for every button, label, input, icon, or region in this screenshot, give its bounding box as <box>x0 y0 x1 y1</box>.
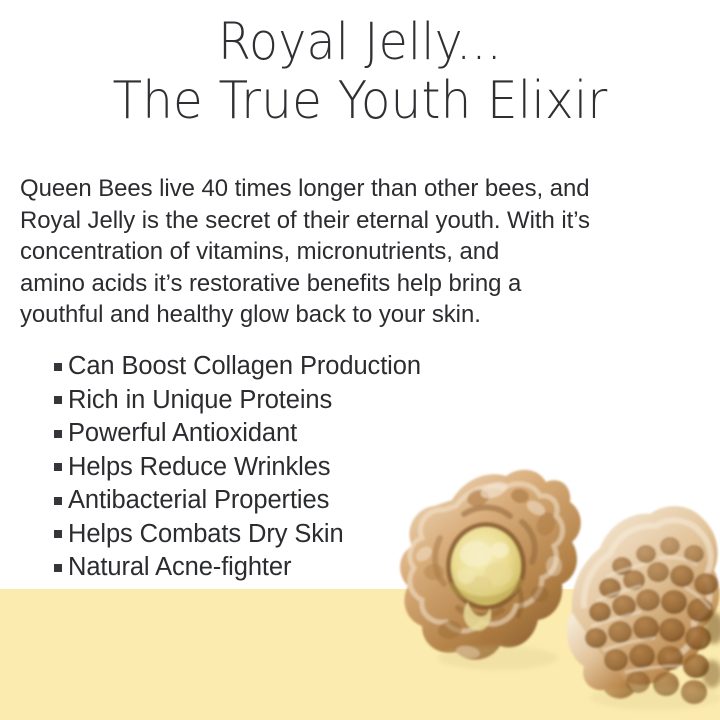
list-item: Rich in Unique Proteins <box>54 384 421 418</box>
list-item-label: Helps Reduce Wrinkles <box>68 453 330 482</box>
list-item: Natural Acne-fighter <box>54 551 421 585</box>
page-title: Royal Jelly... The True Youth Elixir <box>0 14 720 131</box>
square-bullet-icon <box>54 530 62 538</box>
royal-jelly-honeycomb-photo <box>394 462 720 720</box>
list-item-label: Powerful Antioxidant <box>68 419 297 448</box>
list-item: Powerful Antioxidant <box>54 417 421 451</box>
list-item-label: Natural Acne-fighter <box>68 553 291 582</box>
list-item: Helps Reduce Wrinkles <box>54 451 421 485</box>
square-bullet-icon <box>54 463 62 471</box>
benefits-list: Can Boost Collagen Production Rich in Un… <box>54 350 421 585</box>
intro-line: amino acids it’s restorative benefits he… <box>20 268 646 300</box>
page-title-line-2: The True Youth Elixir <box>25 72 695 131</box>
intro-line: youthful and healthy glow back to your s… <box>20 299 646 331</box>
square-bullet-icon <box>54 430 62 438</box>
list-item-label: Antibacterial Properties <box>68 486 329 515</box>
royal-jelly-infographic: Royal Jelly... The True Youth Elixir Que… <box>0 0 720 720</box>
square-bullet-icon <box>54 497 62 505</box>
list-item: Can Boost Collagen Production <box>54 350 421 384</box>
list-item-label: Can Boost Collagen Production <box>68 352 421 381</box>
square-bullet-icon <box>54 363 62 371</box>
list-item: Antibacterial Properties <box>54 484 421 518</box>
square-bullet-icon <box>54 564 62 572</box>
intro-line: concentration of vitamins, micronutrient… <box>20 236 646 268</box>
intro-paragraph: Queen Bees live 40 times longer than oth… <box>20 173 646 331</box>
list-item-label: Helps Combats Dry Skin <box>68 520 344 549</box>
square-bullet-icon <box>54 396 62 404</box>
intro-line: Queen Bees live 40 times longer than oth… <box>20 173 646 205</box>
page-title-line-1: Royal Jelly... <box>25 14 695 72</box>
list-item: Helps Combats Dry Skin <box>54 518 421 552</box>
intro-line: Royal Jelly is the secret of their etern… <box>20 205 646 237</box>
list-item-label: Rich in Unique Proteins <box>68 386 332 415</box>
